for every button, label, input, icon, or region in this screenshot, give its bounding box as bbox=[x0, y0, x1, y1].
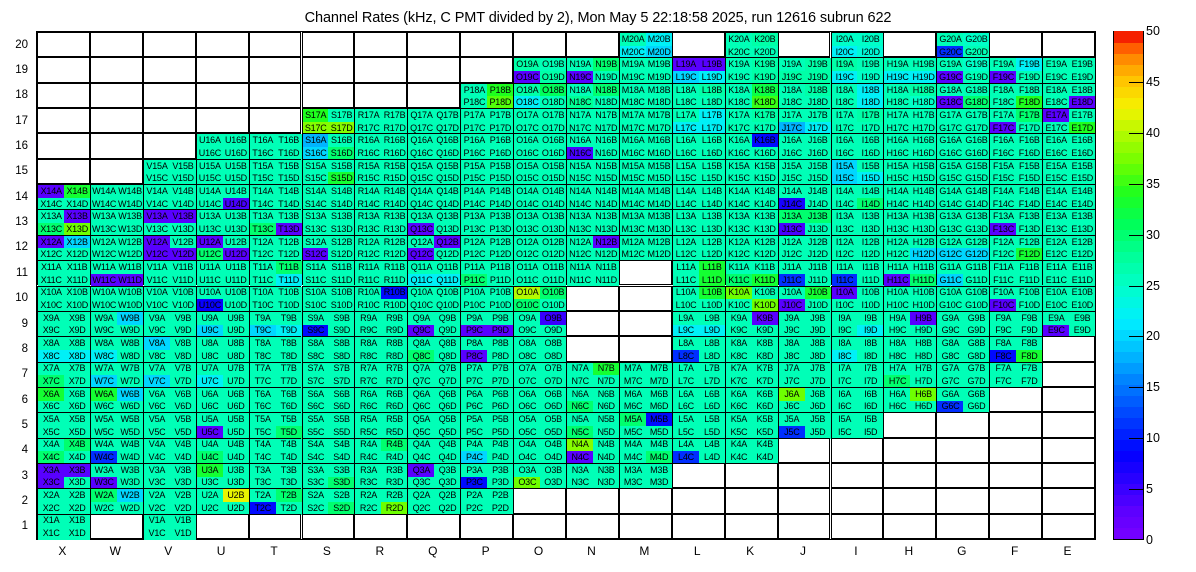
heatmap-cell-H14[interactable]: H14AH14BH14CH14D bbox=[883, 184, 936, 209]
heatmap-subcell-S13A[interactable]: S13A bbox=[303, 210, 329, 223]
heatmap-cell-W10[interactable]: W10AW10BW10CW10D bbox=[90, 286, 143, 311]
heatmap-subcell-X3A[interactable]: X3A bbox=[38, 464, 64, 477]
heatmap-subcell-F19B[interactable]: F19B bbox=[1016, 58, 1042, 71]
heatmap-subcell-N16A[interactable]: N16A bbox=[567, 134, 593, 147]
heatmap-cell-S17[interactable]: S17AS17BS17CS17D bbox=[302, 108, 355, 133]
heatmap-subcell-V14A[interactable]: V14A bbox=[144, 185, 170, 198]
heatmap-cell-S13[interactable]: S13AS13BS13CS13D bbox=[302, 209, 355, 234]
heatmap-subcell-L6B[interactable]: L6B bbox=[699, 388, 725, 401]
heatmap-subcell-I18B[interactable]: I18B bbox=[857, 84, 883, 97]
heatmap-subcell-T6A[interactable]: T6A bbox=[250, 388, 276, 401]
heatmap-subcell-R3A[interactable]: R3A bbox=[355, 464, 381, 477]
heatmap-cell-X12[interactable]: X12AX12BX12CX12D bbox=[37, 235, 90, 260]
heatmap-subcell-E19A[interactable]: E19A bbox=[1043, 58, 1069, 71]
heatmap-subcell-Q14B[interactable]: Q14B bbox=[434, 185, 460, 198]
heatmap-subcell-E17B[interactable]: E17B bbox=[1069, 109, 1095, 122]
heatmap-subcell-O17B[interactable]: O17B bbox=[540, 109, 566, 122]
heatmap-cell-N8[interactable] bbox=[566, 336, 619, 361]
heatmap-subcell-J16A[interactable]: J16A bbox=[779, 134, 805, 147]
heatmap-subcell-T11B[interactable]: T11B bbox=[276, 261, 302, 274]
heatmap-subcell-K7A[interactable]: K7A bbox=[726, 363, 752, 376]
heatmap-subcell-S4B[interactable]: S4B bbox=[328, 439, 354, 452]
heatmap-subcell-R12B[interactable]: R12B bbox=[381, 236, 407, 249]
heatmap-subcell-U9A[interactable]: U9A bbox=[197, 312, 223, 325]
heatmap-subcell-T12B[interactable]: T12B bbox=[276, 236, 302, 249]
heatmap-subcell-V7B[interactable]: V7B bbox=[170, 363, 196, 376]
heatmap-cell-U12[interactable]: U12AU12BU12CU12D bbox=[196, 235, 249, 260]
heatmap-subcell-Q16A[interactable]: Q16A bbox=[408, 134, 434, 147]
heatmap-subcell-X5B[interactable]: X5B bbox=[64, 413, 90, 426]
heatmap-subcell-E9B[interactable]: E9B bbox=[1069, 312, 1095, 325]
heatmap-subcell-T9A[interactable]: T9A bbox=[250, 312, 276, 325]
heatmap-cell-N12[interactable]: N12AN12BN12CN12D bbox=[566, 235, 619, 260]
heatmap-subcell-M12A[interactable]: M12A bbox=[620, 236, 646, 249]
heatmap-cell-P9[interactable]: P9AP9BP9CP9D bbox=[460, 311, 513, 336]
heatmap-cell-Q5[interactable]: Q5AQ5BQ5CQ5D bbox=[407, 412, 460, 437]
heatmap-subcell-N5A[interactable]: N5A bbox=[567, 413, 593, 426]
heatmap-subcell-J13A[interactable]: J13A bbox=[779, 210, 805, 223]
heatmap-subcell-K4B[interactable]: K4B bbox=[752, 439, 778, 452]
heatmap-subcell-F14B[interactable]: F14B bbox=[1016, 185, 1042, 198]
heatmap-subcell-M15B[interactable]: M15B bbox=[646, 160, 672, 173]
heatmap-cell-R18[interactable] bbox=[354, 83, 407, 108]
heatmap-subcell-H11A[interactable]: H11A bbox=[884, 261, 910, 274]
heatmap-subcell-E17A[interactable]: E17A bbox=[1043, 109, 1069, 122]
heatmap-subcell-I6A[interactable]: I6A bbox=[832, 388, 858, 401]
heatmap-subcell-T2B[interactable]: T2B bbox=[276, 489, 302, 502]
heatmap-cell-M13[interactable]: M13AM13BM13CM13D bbox=[619, 209, 672, 234]
heatmap-subcell-V6A[interactable]: V6A bbox=[144, 388, 170, 401]
heatmap-cell-E13[interactable]: E13AE13BE13CE13D bbox=[1042, 209, 1095, 234]
heatmap-subcell-H9A[interactable]: H9A bbox=[884, 312, 910, 325]
heatmap-cell-P10[interactable]: P10AP10BP10CP10D bbox=[460, 286, 513, 311]
heatmap-subcell-F10A[interactable]: F10A bbox=[990, 287, 1016, 300]
heatmap-cell-K11[interactable]: K11AK11BK11CK11D bbox=[725, 260, 778, 285]
heatmap-subcell-I17B[interactable]: I17B bbox=[857, 109, 883, 122]
heatmap-plot[interactable]: M20AM20BM20CM20DK20AK20BK20CK20DI20AI20B… bbox=[36, 31, 1096, 540]
heatmap-subcell-K18B[interactable]: K18B bbox=[752, 84, 778, 97]
heatmap-cell-M12[interactable]: M12AM12BM12CM12D bbox=[619, 235, 672, 260]
heatmap-subcell-K19A[interactable]: K19A bbox=[726, 58, 752, 71]
heatmap-cell-T1[interactable] bbox=[249, 514, 302, 539]
heatmap-cell-S3[interactable]: S3AS3BS3CS3D bbox=[302, 463, 355, 488]
heatmap-cell-L2[interactable] bbox=[672, 488, 725, 513]
heatmap-subcell-G11B[interactable]: G11B bbox=[963, 261, 989, 274]
heatmap-subcell-U6B[interactable]: U6B bbox=[223, 388, 249, 401]
heatmap-cell-G7[interactable]: G7AG7BG7CG7D bbox=[936, 362, 989, 387]
heatmap-cell-U20[interactable] bbox=[196, 32, 249, 57]
heatmap-subcell-G11A[interactable]: G11A bbox=[937, 261, 963, 274]
heatmap-subcell-L5B[interactable]: L5B bbox=[699, 413, 725, 426]
heatmap-subcell-H7B[interactable]: H7B bbox=[910, 363, 936, 376]
heatmap-subcell-J14A[interactable]: J14A bbox=[779, 185, 805, 198]
heatmap-cell-K6[interactable]: K6AK6BK6CK6D bbox=[725, 387, 778, 412]
heatmap-cell-R17[interactable]: R17AR17BR17CR17D bbox=[354, 108, 407, 133]
heatmap-cell-F1[interactable] bbox=[989, 514, 1042, 539]
heatmap-cell-R13[interactable]: R13AR13BR13CR13D bbox=[354, 209, 407, 234]
heatmap-cell-G17[interactable]: G17AG17BG17CG17D bbox=[936, 108, 989, 133]
heatmap-cell-X16[interactable] bbox=[37, 133, 90, 158]
heatmap-subcell-I16A[interactable]: I16A bbox=[832, 134, 858, 147]
heatmap-subcell-J10B[interactable]: J10B bbox=[805, 287, 831, 300]
heatmap-subcell-O15A[interactable]: O15A bbox=[514, 160, 540, 173]
heatmap-subcell-J12A[interactable]: J12A bbox=[779, 236, 805, 249]
heatmap-subcell-V1D[interactable]: V1D bbox=[170, 527, 196, 540]
heatmap-cell-H1[interactable] bbox=[883, 514, 936, 539]
heatmap-cell-Q14[interactable]: Q14AQ14BQ14CQ14D bbox=[407, 184, 460, 209]
heatmap-cell-M2[interactable] bbox=[619, 488, 672, 513]
heatmap-subcell-I19A[interactable]: I19A bbox=[832, 58, 858, 71]
heatmap-cell-T16[interactable]: T16AT16BT16CT16D bbox=[249, 133, 302, 158]
heatmap-subcell-U11B[interactable]: U11B bbox=[223, 261, 249, 274]
heatmap-subcell-V3B[interactable]: V3B bbox=[170, 464, 196, 477]
heatmap-subcell-G8B[interactable]: G8B bbox=[963, 337, 989, 350]
heatmap-cell-W13[interactable]: W13AW13BW13CW13D bbox=[90, 209, 143, 234]
heatmap-subcell-N19B[interactable]: N19B bbox=[593, 58, 619, 71]
heatmap-subcell-M16B[interactable]: M16B bbox=[646, 134, 672, 147]
heatmap-cell-E20[interactable] bbox=[1042, 32, 1095, 57]
heatmap-subcell-Q17B[interactable]: Q17B bbox=[434, 109, 460, 122]
heatmap-subcell-H14A[interactable]: H14A bbox=[884, 185, 910, 198]
heatmap-cell-L13[interactable]: L13AL13BL13CL13D bbox=[672, 209, 725, 234]
heatmap-cell-Q6[interactable]: Q6AQ6BQ6CQ6D bbox=[407, 387, 460, 412]
heatmap-cell-O11[interactable]: O11AO11BO11CO11D bbox=[513, 260, 566, 285]
heatmap-subcell-I7B[interactable]: I7B bbox=[857, 363, 883, 376]
heatmap-subcell-K7B[interactable]: K7B bbox=[752, 363, 778, 376]
heatmap-cell-M11[interactable] bbox=[619, 260, 672, 285]
heatmap-subcell-I18A[interactable]: I18A bbox=[832, 84, 858, 97]
heatmap-subcell-N18B[interactable]: N18B bbox=[593, 84, 619, 97]
heatmap-cell-N9[interactable] bbox=[566, 311, 619, 336]
heatmap-subcell-X4A[interactable]: X4A bbox=[38, 439, 64, 452]
heatmap-subcell-H18A[interactable]: H18A bbox=[884, 84, 910, 97]
heatmap-cell-F7[interactable]: F7AF7BF7CF7D bbox=[989, 362, 1042, 387]
heatmap-subcell-H15B[interactable]: H15B bbox=[910, 160, 936, 173]
heatmap-subcell-G8A[interactable]: G8A bbox=[937, 337, 963, 350]
heatmap-cell-R2[interactable]: R2AR2BR2CR2D bbox=[354, 488, 407, 513]
heatmap-cell-P20[interactable] bbox=[460, 32, 513, 57]
heatmap-subcell-G9A[interactable]: G9A bbox=[937, 312, 963, 325]
heatmap-cell-M3[interactable]: M3AM3BM3CM3D bbox=[619, 463, 672, 488]
heatmap-subcell-Q5B[interactable]: Q5B bbox=[434, 413, 460, 426]
heatmap-subcell-X7A[interactable]: X7A bbox=[38, 363, 64, 376]
heatmap-subcell-K16A[interactable]: K16A bbox=[726, 134, 752, 147]
heatmap-subcell-M15A[interactable]: M15A bbox=[620, 160, 646, 173]
heatmap-subcell-N3B[interactable]: N3B bbox=[593, 464, 619, 477]
heatmap-subcell-L17A[interactable]: L17A bbox=[673, 109, 699, 122]
heatmap-cell-W5[interactable]: W5AW5BW5CW5D bbox=[90, 412, 143, 437]
heatmap-subcell-N11B[interactable]: N11B bbox=[593, 261, 619, 274]
heatmap-cell-R3[interactable]: R3AR3BR3CR3D bbox=[354, 463, 407, 488]
heatmap-subcell-V9A[interactable]: V9A bbox=[144, 312, 170, 325]
heatmap-subcell-J17B[interactable]: J17B bbox=[805, 109, 831, 122]
heatmap-subcell-L13A[interactable]: L13A bbox=[673, 210, 699, 223]
heatmap-cell-E8[interactable] bbox=[1042, 336, 1095, 361]
heatmap-subcell-O3B[interactable]: O3B bbox=[540, 464, 566, 477]
heatmap-subcell-R2A[interactable]: R2A bbox=[355, 489, 381, 502]
heatmap-cell-M8[interactable] bbox=[619, 336, 672, 361]
heatmap-cell-S16[interactable]: S16AS16BS16CS16D bbox=[302, 133, 355, 158]
heatmap-cell-Q9[interactable]: Q9AQ9BQ9CQ9D bbox=[407, 311, 460, 336]
heatmap-cell-N19[interactable]: N19AN19BN19CN19D bbox=[566, 57, 619, 82]
heatmap-subcell-O12A[interactable]: O12A bbox=[514, 236, 540, 249]
heatmap-cell-K16[interactable]: K16AK16BK16CK16D bbox=[725, 133, 778, 158]
heatmap-cell-Q8[interactable]: Q8AQ8BQ8CQ8D bbox=[407, 336, 460, 361]
heatmap-subcell-X12B[interactable]: X12B bbox=[64, 236, 90, 249]
heatmap-subcell-H12A[interactable]: H12A bbox=[884, 236, 910, 249]
heatmap-subcell-M14A[interactable]: M14A bbox=[620, 185, 646, 198]
heatmap-subcell-G15A[interactable]: G15A bbox=[937, 160, 963, 173]
heatmap-subcell-H18B[interactable]: H18B bbox=[910, 84, 936, 97]
heatmap-subcell-J13B[interactable]: J13B bbox=[805, 210, 831, 223]
heatmap-subcell-J14B[interactable]: J14B bbox=[805, 185, 831, 198]
heatmap-subcell-T15B[interactable]: T15B bbox=[276, 160, 302, 173]
heatmap-subcell-U8B[interactable]: U8B bbox=[223, 337, 249, 350]
heatmap-cell-J7[interactable]: J7AJ7BJ7CJ7D bbox=[778, 362, 831, 387]
heatmap-subcell-N17B[interactable]: N17B bbox=[593, 109, 619, 122]
heatmap-cell-Q3[interactable]: Q3AQ3BQ3CQ3D bbox=[407, 463, 460, 488]
heatmap-cell-V9[interactable]: V9AV9BV9CV9D bbox=[143, 311, 196, 336]
heatmap-subcell-I17A[interactable]: I17A bbox=[832, 109, 858, 122]
heatmap-subcell-P18B[interactable]: P18B bbox=[487, 84, 513, 97]
heatmap-subcell-S11A[interactable]: S11A bbox=[303, 261, 329, 274]
heatmap-cell-Q10[interactable]: Q10AQ10BQ10CQ10D bbox=[407, 286, 460, 311]
heatmap-cell-N18[interactable]: N18AN18BN18CN18D bbox=[566, 83, 619, 108]
heatmap-subcell-S9A[interactable]: S9A bbox=[303, 312, 329, 325]
heatmap-subcell-E13B[interactable]: E13B bbox=[1069, 210, 1095, 223]
heatmap-cell-S15[interactable]: S15AS15BS15CS15D bbox=[302, 159, 355, 184]
heatmap-cell-P16[interactable]: P16AP16BP16CP16D bbox=[460, 133, 513, 158]
heatmap-cell-T5[interactable]: T5AT5BT5CT5D bbox=[249, 412, 302, 437]
heatmap-subcell-Q12B[interactable]: Q12B bbox=[434, 236, 460, 249]
heatmap-subcell-K12B[interactable]: K12B bbox=[752, 236, 778, 249]
heatmap-cell-X4[interactable]: X4AX4BX4CX4D bbox=[37, 438, 90, 463]
heatmap-subcell-K9A[interactable]: K9A bbox=[726, 312, 752, 325]
heatmap-cell-T18[interactable] bbox=[249, 83, 302, 108]
heatmap-cell-G19[interactable]: G19AG19BG19CG19D bbox=[936, 57, 989, 82]
heatmap-subcell-W5A[interactable]: W5A bbox=[91, 413, 117, 426]
heatmap-subcell-W11A[interactable]: W11A bbox=[91, 261, 117, 274]
heatmap-cell-O2[interactable] bbox=[513, 488, 566, 513]
heatmap-cell-O12[interactable]: O12AO12BO12CO12D bbox=[513, 235, 566, 260]
heatmap-cell-H6[interactable]: H6AH6BH6CH6D bbox=[883, 387, 936, 412]
heatmap-subcell-X13A[interactable]: X13A bbox=[38, 210, 64, 223]
heatmap-subcell-S2A[interactable]: S2A bbox=[303, 489, 329, 502]
heatmap-subcell-Q13A[interactable]: Q13A bbox=[408, 210, 434, 223]
heatmap-subcell-U14B[interactable]: U14B bbox=[223, 185, 249, 198]
heatmap-subcell-R15B[interactable]: R15B bbox=[381, 160, 407, 173]
heatmap-cell-E5[interactable] bbox=[1042, 412, 1095, 437]
heatmap-subcell-U9B[interactable]: U9B bbox=[223, 312, 249, 325]
heatmap-subcell-R9A[interactable]: R9A bbox=[355, 312, 381, 325]
heatmap-subcell-O14A[interactable]: O14A bbox=[514, 185, 540, 198]
heatmap-cell-R9[interactable]: R9AR9BR9CR9D bbox=[354, 311, 407, 336]
heatmap-cell-L8[interactable]: L8AL8BL8CL8D bbox=[672, 336, 725, 361]
heatmap-cell-T15[interactable]: T15AT15BT15CT15D bbox=[249, 159, 302, 184]
heatmap-cell-I17[interactable]: I17AI17BI17CI17D bbox=[831, 108, 884, 133]
heatmap-subcell-E12B[interactable]: E12B bbox=[1069, 236, 1095, 249]
heatmap-cell-S5[interactable]: S5AS5BS5CS5D bbox=[302, 412, 355, 437]
heatmap-cell-J6[interactable]: J6AJ6BJ6CJ6D bbox=[778, 387, 831, 412]
heatmap-subcell-P4A[interactable]: P4A bbox=[461, 439, 487, 452]
heatmap-subcell-U10A[interactable]: U10A bbox=[197, 287, 223, 300]
heatmap-cell-V7[interactable]: V7AV7BV7CV7D bbox=[143, 362, 196, 387]
heatmap-subcell-X1B[interactable]: X1B bbox=[64, 515, 90, 528]
heatmap-subcell-K11B[interactable]: K11B bbox=[752, 261, 778, 274]
heatmap-subcell-S14A[interactable]: S14A bbox=[303, 185, 329, 198]
heatmap-subcell-S14B[interactable]: S14B bbox=[328, 185, 354, 198]
heatmap-subcell-R13B[interactable]: R13B bbox=[381, 210, 407, 223]
heatmap-cell-N11[interactable]: N11AN11BN11CN11D bbox=[566, 260, 619, 285]
heatmap-subcell-V10A[interactable]: V10A bbox=[144, 287, 170, 300]
heatmap-subcell-I9B[interactable]: I9B bbox=[857, 312, 883, 325]
heatmap-subcell-Q2B[interactable]: Q2B bbox=[434, 489, 460, 502]
heatmap-cell-I13[interactable]: I13AI13BI13CI13D bbox=[831, 209, 884, 234]
heatmap-cell-J10[interactable]: J10AJ10BJ10CJ10D bbox=[778, 286, 831, 311]
heatmap-subcell-P17B[interactable]: P17B bbox=[487, 109, 513, 122]
heatmap-subcell-H7A[interactable]: H7A bbox=[884, 363, 910, 376]
heatmap-subcell-Q11B[interactable]: Q11B bbox=[434, 261, 460, 274]
heatmap-subcell-Q17A[interactable]: Q17A bbox=[408, 109, 434, 122]
heatmap-cell-U5[interactable]: U5AU5BU5CU5D bbox=[196, 412, 249, 437]
heatmap-cell-T12[interactable]: T12AT12BT12CT12D bbox=[249, 235, 302, 260]
heatmap-cell-T3[interactable]: T3AT3BT3CT3D bbox=[249, 463, 302, 488]
heatmap-subcell-V3A[interactable]: V3A bbox=[144, 464, 170, 477]
heatmap-cell-I4[interactable] bbox=[831, 438, 884, 463]
heatmap-subcell-U5A[interactable]: U5A bbox=[197, 413, 223, 426]
heatmap-subcell-U6A[interactable]: U6A bbox=[197, 388, 223, 401]
heatmap-cell-T8[interactable]: T8AT8BT8CT8D bbox=[249, 336, 302, 361]
heatmap-subcell-F17B[interactable]: F17B bbox=[1016, 109, 1042, 122]
heatmap-subcell-J5B[interactable]: J5B bbox=[805, 413, 831, 426]
heatmap-subcell-N15A[interactable]: N15A bbox=[567, 160, 593, 173]
heatmap-cell-T14[interactable]: T14AT14BT14CT14D bbox=[249, 184, 302, 209]
heatmap-subcell-E12A[interactable]: E12A bbox=[1043, 236, 1069, 249]
heatmap-cell-I15[interactable]: I15AI15BI15CI15D bbox=[831, 159, 884, 184]
heatmap-subcell-O6A[interactable]: O6A bbox=[514, 388, 540, 401]
heatmap-cell-I2[interactable] bbox=[831, 488, 884, 513]
heatmap-subcell-J15A[interactable]: J15A bbox=[779, 160, 805, 173]
heatmap-subcell-R3B[interactable]: R3B bbox=[381, 464, 407, 477]
heatmap-cell-H19[interactable]: H19AH19BH19CH19D bbox=[883, 57, 936, 82]
heatmap-subcell-L13B[interactable]: L13B bbox=[699, 210, 725, 223]
heatmap-subcell-Q4A[interactable]: Q4A bbox=[408, 439, 434, 452]
heatmap-subcell-S5B[interactable]: S5B bbox=[328, 413, 354, 426]
heatmap-subcell-N15B[interactable]: N15B bbox=[593, 160, 619, 173]
heatmap-cell-V3[interactable]: V3AV3BV3CV3D bbox=[143, 463, 196, 488]
heatmap-subcell-G20A[interactable]: G20A bbox=[937, 33, 963, 46]
heatmap-subcell-X11B[interactable]: X11B bbox=[64, 261, 90, 274]
heatmap-subcell-O12B[interactable]: O12B bbox=[540, 236, 566, 249]
heatmap-subcell-M5B[interactable]: M5B bbox=[646, 413, 672, 426]
heatmap-subcell-O7B[interactable]: O7B bbox=[540, 363, 566, 376]
heatmap-subcell-X9B[interactable]: X9B bbox=[64, 312, 90, 325]
heatmap-cell-G11[interactable]: G11AG11BG11CG11D bbox=[936, 260, 989, 285]
heatmap-subcell-P9A[interactable]: P9A bbox=[461, 312, 487, 325]
heatmap-subcell-U5B[interactable]: U5B bbox=[223, 413, 249, 426]
heatmap-cell-G10[interactable]: G10AG10BG10CG10D bbox=[936, 286, 989, 311]
heatmap-subcell-I6B[interactable]: I6B bbox=[857, 388, 883, 401]
heatmap-subcell-R8B[interactable]: R8B bbox=[381, 337, 407, 350]
heatmap-subcell-S17B[interactable]: S17B bbox=[328, 109, 354, 122]
heatmap-subcell-W2A[interactable]: W2A bbox=[91, 489, 117, 502]
heatmap-subcell-Q9A[interactable]: Q9A bbox=[408, 312, 434, 325]
heatmap-subcell-S15A[interactable]: S15A bbox=[303, 160, 329, 173]
heatmap-cell-E1[interactable] bbox=[1042, 514, 1095, 539]
heatmap-subcell-N4A[interactable]: N4A bbox=[567, 439, 593, 452]
heatmap-cell-N5[interactable]: N5AN5BN5CN5D bbox=[566, 412, 619, 437]
heatmap-cell-V20[interactable] bbox=[143, 32, 196, 57]
heatmap-subcell-K9B[interactable]: K9B bbox=[752, 312, 778, 325]
heatmap-subcell-H6B[interactable]: H6B bbox=[910, 388, 936, 401]
heatmap-cell-W8[interactable]: W8AW8BW8CW8D bbox=[90, 336, 143, 361]
heatmap-cell-S19[interactable] bbox=[302, 57, 355, 82]
heatmap-cell-O8[interactable]: O8AO8BO8CO8D bbox=[513, 336, 566, 361]
heatmap-cell-W1[interactable] bbox=[90, 514, 143, 539]
heatmap-subcell-G9B[interactable]: G9B bbox=[963, 312, 989, 325]
heatmap-cell-N1[interactable] bbox=[566, 514, 619, 539]
heatmap-cell-V8[interactable]: V8AV8BV8CV8D bbox=[143, 336, 196, 361]
heatmap-cell-I10[interactable]: I10AI10BI10CI10D bbox=[831, 286, 884, 311]
heatmap-cell-M5[interactable]: M5AM5BM5CM5D bbox=[619, 412, 672, 437]
heatmap-cell-H17[interactable]: H17AH17BH17CH17D bbox=[883, 108, 936, 133]
heatmap-subcell-F16B[interactable]: F16B bbox=[1016, 134, 1042, 147]
heatmap-subcell-O4B[interactable]: O4B bbox=[540, 439, 566, 452]
heatmap-subcell-K18A[interactable]: K18A bbox=[726, 84, 752, 97]
heatmap-cell-L10[interactable]: L10AL10BL10CL10D bbox=[672, 286, 725, 311]
heatmap-subcell-R17B[interactable]: R17B bbox=[381, 109, 407, 122]
heatmap-subcell-T7A[interactable]: T7A bbox=[250, 363, 276, 376]
heatmap-subcell-J7A[interactable]: J7A bbox=[779, 363, 805, 376]
heatmap-subcell-T4A[interactable]: T4A bbox=[250, 439, 276, 452]
heatmap-cell-X15[interactable] bbox=[37, 159, 90, 184]
heatmap-cell-W20[interactable] bbox=[90, 32, 143, 57]
heatmap-subcell-Q14A[interactable]: Q14A bbox=[408, 185, 434, 198]
heatmap-subcell-Q8B[interactable]: Q8B bbox=[434, 337, 460, 350]
heatmap-subcell-R11A[interactable]: R11A bbox=[355, 261, 381, 274]
heatmap-cell-H9[interactable]: H9AH9BH9CH9D bbox=[883, 311, 936, 336]
heatmap-subcell-W12B[interactable]: W12B bbox=[117, 236, 143, 249]
heatmap-cell-H4[interactable] bbox=[883, 438, 936, 463]
heatmap-cell-F11[interactable]: F11AF11BF11CF11D bbox=[989, 260, 1042, 285]
heatmap-cell-S14[interactable]: S14AS14BS14CS14D bbox=[302, 184, 355, 209]
heatmap-subcell-H17B[interactable]: H17B bbox=[910, 109, 936, 122]
heatmap-cell-G8[interactable]: G8AG8BG8CG8D bbox=[936, 336, 989, 361]
heatmap-subcell-H13A[interactable]: H13A bbox=[884, 210, 910, 223]
heatmap-subcell-I5B[interactable]: I5B bbox=[857, 413, 883, 426]
heatmap-subcell-U10B[interactable]: U10B bbox=[223, 287, 249, 300]
heatmap-subcell-J10A[interactable]: J10A bbox=[779, 287, 805, 300]
heatmap-subcell-J15B[interactable]: J15B bbox=[805, 160, 831, 173]
heatmap-subcell-P11A[interactable]: P11A bbox=[461, 261, 487, 274]
heatmap-cell-I3[interactable] bbox=[831, 463, 884, 488]
heatmap-subcell-U15B[interactable]: U15B bbox=[223, 160, 249, 173]
heatmap-cell-U11[interactable]: U11AU11BU11CU11D bbox=[196, 260, 249, 285]
heatmap-subcell-R11B[interactable]: R11B bbox=[381, 261, 407, 274]
heatmap-subcell-G16A[interactable]: G16A bbox=[937, 134, 963, 147]
heatmap-subcell-P10B[interactable]: P10B bbox=[487, 287, 513, 300]
heatmap-subcell-V7A[interactable]: V7A bbox=[144, 363, 170, 376]
heatmap-cell-H18[interactable]: H18AH18BH18CH18D bbox=[883, 83, 936, 108]
heatmap-subcell-R14A[interactable]: R14A bbox=[355, 185, 381, 198]
heatmap-cell-F2[interactable] bbox=[989, 488, 1042, 513]
heatmap-subcell-N4B[interactable]: N4B bbox=[593, 439, 619, 452]
heatmap-cell-W9[interactable]: W9AW9BW9CW9D bbox=[90, 311, 143, 336]
heatmap-subcell-L5A[interactable]: L5A bbox=[673, 413, 699, 426]
heatmap-subcell-G7B[interactable]: G7B bbox=[963, 363, 989, 376]
heatmap-subcell-T14A[interactable]: T14A bbox=[250, 185, 276, 198]
heatmap-cell-U2[interactable]: U2AU2BU2CU2D bbox=[196, 488, 249, 513]
